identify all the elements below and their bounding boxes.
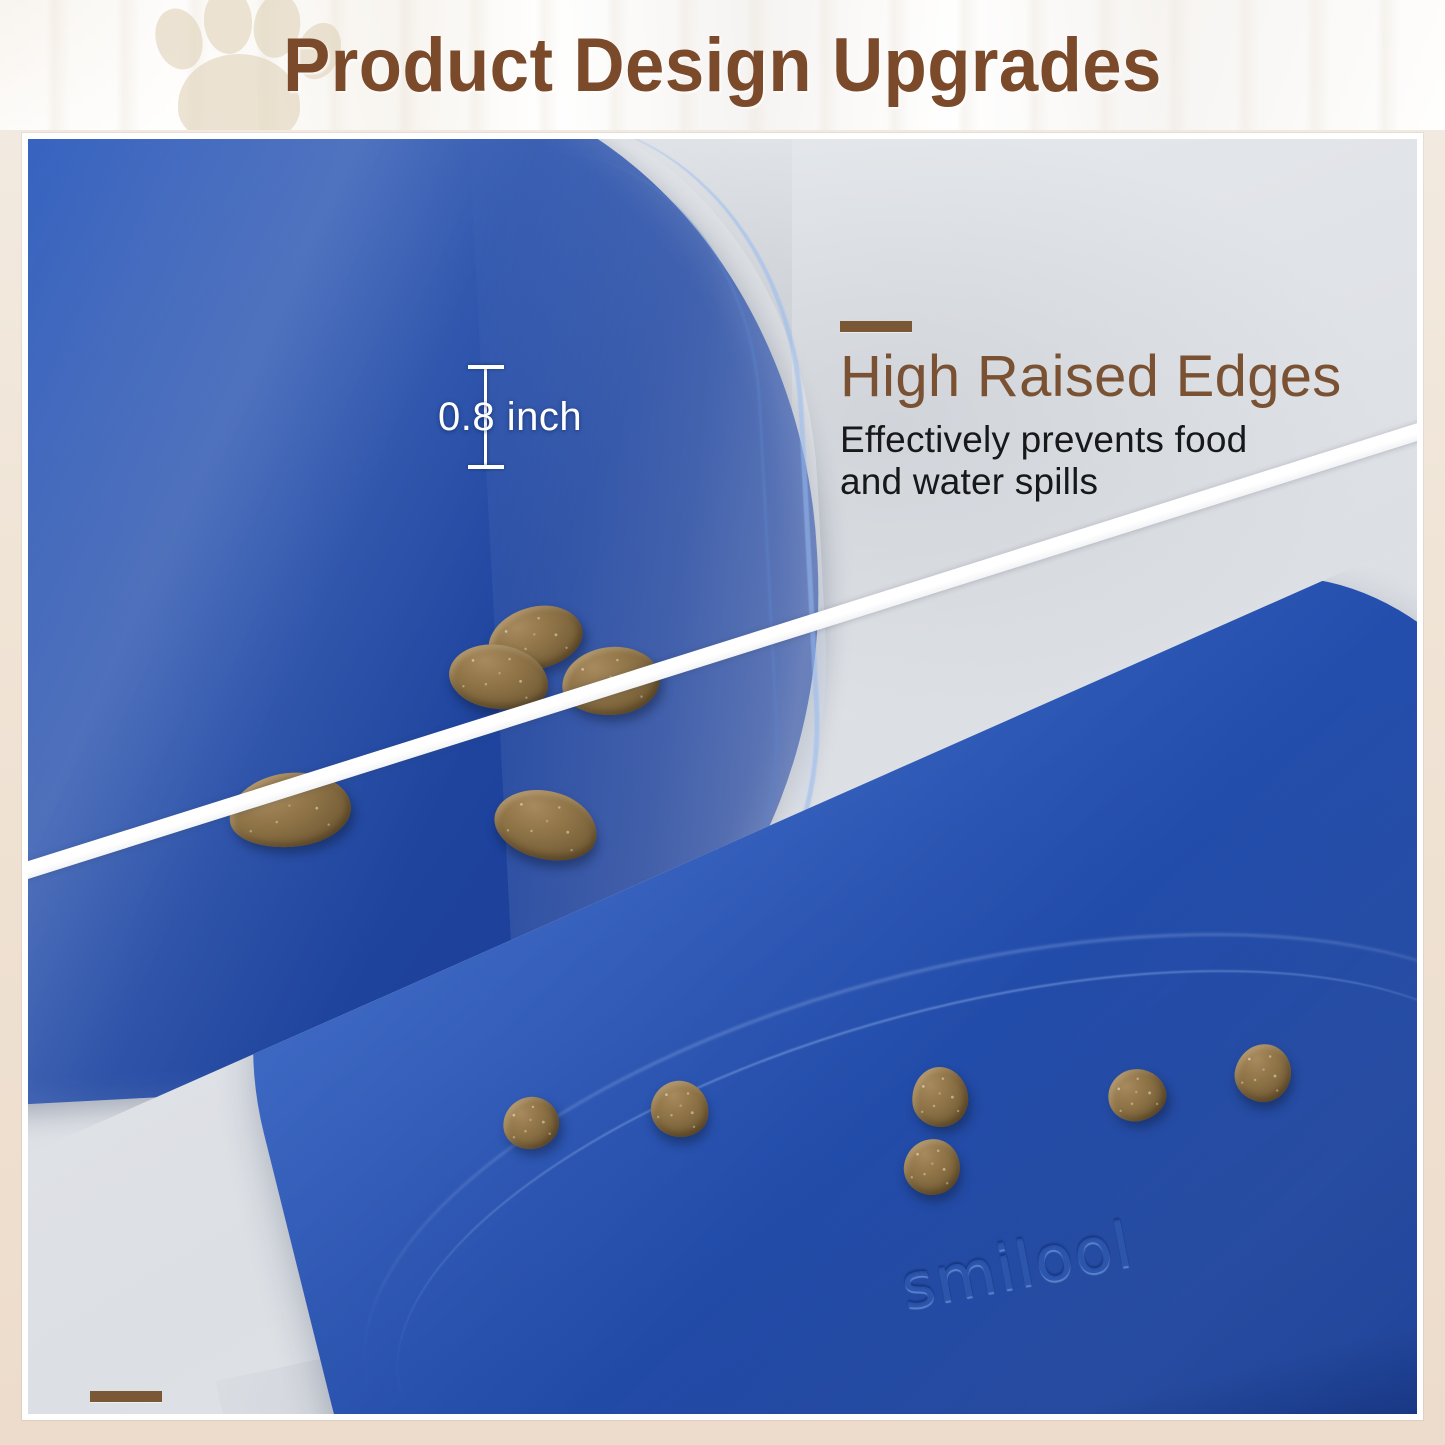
- feature-block-keeping-floor-clean: Keeping the floor clean Minimizes time s…: [90, 1391, 1210, 1414]
- feature-block-high-raised-edges: High Raised Edges Effectively prevents f…: [840, 321, 1417, 503]
- accent-dash-icon: [840, 321, 912, 332]
- feature-subtitle-line-2: and water spills: [840, 461, 1417, 503]
- dimension-callout: 0.8 inch: [420, 357, 650, 477]
- dimension-label: 0.8 inch: [438, 395, 582, 440]
- feature-title: High Raised Edges: [840, 346, 1417, 409]
- dimension-cap-top: [468, 365, 504, 369]
- feature-title: Keeping the floor clean: [90, 1412, 1210, 1414]
- page-title: Product Design Upgrades: [51, 0, 1395, 130]
- feature-title-strong: Keeping the floor: [90, 1412, 521, 1414]
- dimension-cap-bottom: [468, 465, 504, 469]
- product-photo-composite: 0.8 inch smilool High Raised Edges Effec…: [28, 139, 1417, 1414]
- accent-dash-icon: [90, 1391, 162, 1402]
- feature-subtitle-line-1: Effectively prevents food: [840, 419, 1417, 461]
- header-banner: Product Design Upgrades: [0, 0, 1445, 130]
- feature-title-soft: clean: [549, 1412, 685, 1414]
